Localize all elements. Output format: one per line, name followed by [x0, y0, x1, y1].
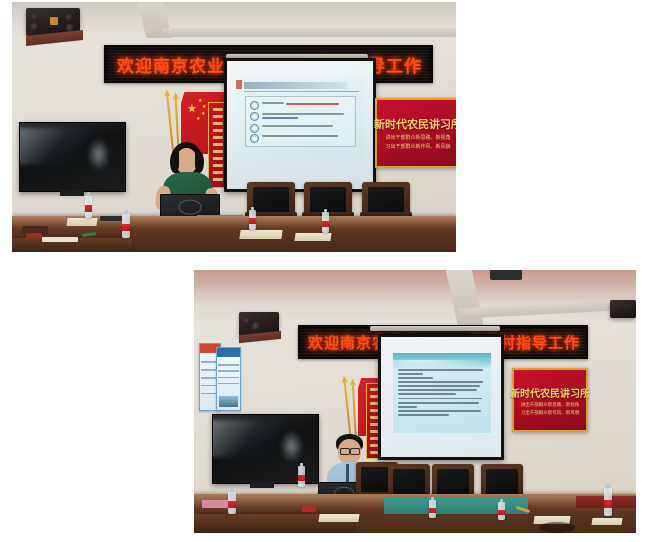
chair-pad — [437, 469, 469, 497]
water-bottle-1 — [298, 466, 305, 487]
ceiling-color-cast — [194, 270, 636, 304]
wall-speaker — [26, 8, 80, 36]
presentation-slide-bullets — [236, 78, 365, 158]
bottle-cap — [606, 484, 611, 488]
bullet-ring-icon — [250, 134, 259, 143]
table-paper-1 — [318, 514, 359, 522]
bullet-ring-icon — [250, 101, 259, 110]
bottle-label — [322, 221, 329, 227]
poster-title-bar — [217, 348, 240, 357]
bottle-label — [604, 500, 612, 508]
table-paper-3 — [294, 233, 331, 241]
table-item-paper-white — [42, 237, 78, 242]
water-bottle-2 — [122, 214, 130, 238]
chair-pad — [393, 469, 425, 497]
tv-glare — [19, 128, 87, 165]
table-remote — [100, 216, 122, 221]
chair-pad — [486, 469, 518, 497]
photo-bottom: 欢迎南京农业大 乐坪村指导工作 ★ ★ ★ ★ ★ — [194, 270, 636, 533]
bottle-label — [228, 501, 236, 508]
projector-screen-canvas — [227, 61, 373, 189]
dell-logo-icon — [179, 200, 202, 215]
bottle-cap — [300, 463, 304, 466]
poster-rule — [218, 383, 238, 385]
plaque-line-1: 讲出干部群众新思路、新视角 — [521, 402, 580, 408]
bottle-label — [298, 475, 305, 481]
poster-photo — [219, 396, 238, 407]
table-shadow-object — [539, 522, 575, 533]
flag-star-big: ★ — [187, 103, 197, 114]
bottle-cap — [124, 210, 129, 214]
bullet-text-1 — [262, 101, 350, 105]
plaque-title: 新时代农民讲习所 — [510, 385, 590, 400]
presenter-hair-side-right — [195, 151, 204, 173]
wall-speaker-right — [610, 300, 636, 318]
bullet-ring-icon — [250, 112, 259, 121]
water-bottle-5 — [604, 488, 612, 516]
flat-screen-tv — [19, 122, 126, 192]
presenter-head — [176, 148, 197, 174]
table-paper-2 — [239, 230, 282, 239]
glasses-icon-right — [350, 448, 360, 455]
water-bottle-1 — [85, 196, 92, 218]
water-bottle-3 — [429, 500, 436, 518]
bullet-text-4 — [262, 134, 350, 137]
projector-screen-frame — [224, 58, 376, 192]
wall-speaker-left — [239, 312, 279, 336]
led-banner-left-text: 欢迎南京农业大 — [106, 52, 243, 77]
projector-screen-canvas — [381, 337, 501, 457]
bottle-cap — [324, 209, 328, 212]
glasses-icon — [340, 448, 350, 455]
bottle-label — [249, 218, 256, 224]
slide-title-bar — [244, 82, 347, 89]
table-item-red — [26, 233, 42, 238]
plaque-line-1: 讲出干部群众新思路、新视角 — [385, 134, 450, 141]
slide-bullet-3 — [250, 124, 350, 133]
ceiling-beam-cross — [162, 28, 456, 37]
meeting-room-scene-bottom: 欢迎南京农业大 乐坪村指导工作 ★ ★ ★ ★ ★ — [194, 270, 636, 533]
bottle-cap — [87, 192, 91, 196]
meeting-room-scene-top: 欢迎南京农业大 乐坪村指导工作 ★ ★ ★ ★ ★ — [12, 2, 456, 252]
slide-bullet-4 — [250, 134, 350, 143]
chair-pad — [253, 187, 290, 215]
bottle-cap — [431, 497, 435, 500]
tv-glare — [212, 420, 280, 457]
speaker-driver-icon — [66, 14, 73, 21]
presenter-hair-side — [170, 151, 179, 173]
tv-reflection — [280, 430, 303, 463]
slide-content-box — [245, 96, 356, 147]
presentation-slide-text — [393, 353, 491, 433]
table-paper-1 — [66, 218, 97, 226]
water-bottle-4 — [322, 212, 329, 233]
slide-wave-header — [393, 353, 491, 369]
bullet-text-3 — [262, 124, 350, 127]
tv-stand — [250, 482, 274, 488]
plaque-line-2: 习出干部群众新作风、新风貌 — [385, 143, 450, 150]
plaque-line-2: 习出干部群众新作风、新风貌 — [521, 410, 580, 416]
slide-bullet-2 — [250, 112, 350, 121]
speaker-woofer-icon — [31, 23, 39, 31]
bottle-cap — [251, 207, 255, 210]
bottle-cap — [230, 488, 235, 492]
bottle-label — [498, 510, 505, 515]
table-item-red — [302, 506, 316, 512]
bullet-ring-icon — [250, 124, 259, 133]
plaque-title: 新时代农民讲习所 — [374, 116, 456, 132]
slide-paragraphs — [398, 369, 486, 428]
flag-star-s4: ★ — [196, 117, 200, 122]
flag-star-s2: ★ — [202, 105, 206, 110]
bottle-label — [122, 224, 130, 231]
photo-top: 欢迎南京农业大 乐坪村指导工作 ★ ★ ★ ★ ★ — [12, 2, 456, 252]
slide-accent-tab — [236, 80, 242, 90]
spear-icon-1 — [344, 380, 352, 442]
ceiling-projector — [490, 270, 522, 280]
slide-bullet-1 — [250, 101, 350, 110]
tv-stand — [60, 190, 84, 196]
green-tablecloth — [384, 498, 528, 514]
poster-rule — [218, 364, 238, 366]
training-hall-plaque: 新时代农民讲习所 讲出干部群众新思路、新视角 习出干部群众新作风、新风貌 — [512, 368, 588, 432]
flag-star-s3: ★ — [201, 112, 205, 117]
projector-screen-frame — [378, 334, 504, 460]
table-paper-3 — [592, 518, 623, 525]
training-hall-plaque: 新时代农民讲习所 讲出干部群众新思路、新视角 习出干部群众新作风、新风貌 — [375, 98, 456, 168]
bottle-label — [85, 205, 92, 212]
water-bottle-2 — [228, 492, 236, 514]
chair-pad — [368, 187, 405, 215]
tv-reflection — [87, 138, 110, 171]
water-bottle-4 — [498, 502, 505, 520]
table-item-pink — [202, 500, 228, 508]
wall-poster-2 — [216, 347, 241, 411]
speaker-tweeter-icon — [244, 318, 250, 324]
water-bottle-3 — [249, 210, 256, 230]
slide-title-rule — [244, 91, 359, 92]
bullet-text-2 — [262, 112, 350, 119]
speaker-badge — [50, 17, 58, 25]
bottle-label — [429, 508, 436, 513]
bottle-cap — [500, 499, 504, 502]
speaker-woofer-icon — [252, 322, 261, 331]
speaker-tweeter-icon — [32, 14, 38, 20]
poster-rule — [218, 377, 238, 379]
projector-screen-roller — [370, 326, 500, 331]
chair-pad — [310, 187, 347, 215]
poster-rule — [218, 370, 238, 372]
